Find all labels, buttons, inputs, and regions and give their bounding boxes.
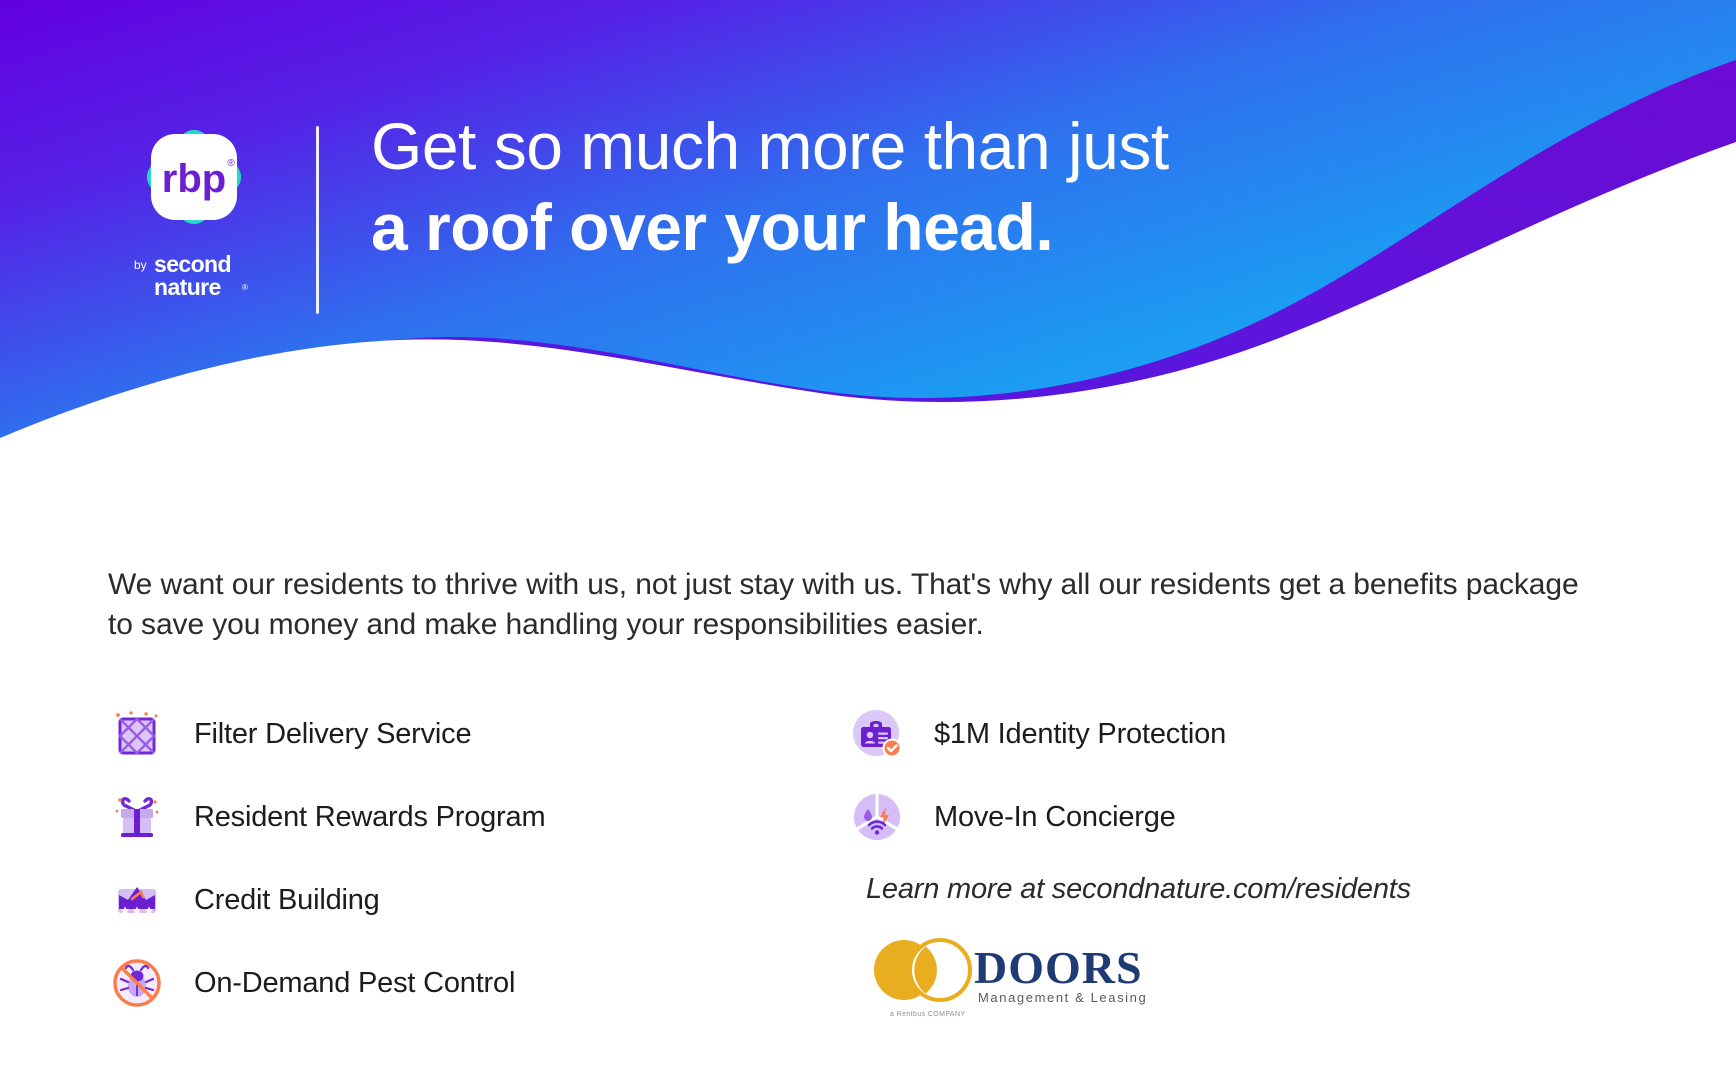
- doors-partner-logo: DOORS Management & Leasing a Rentbus COM…: [862, 928, 1162, 1024]
- no-pest-icon: [108, 954, 166, 1012]
- svg-text:nature: nature: [154, 274, 221, 300]
- benefit-resident-rewards-program: Resident Rewards Program: [108, 776, 848, 859]
- benefit-identity-protection: $1M Identity Protection: [848, 693, 1588, 776]
- benefits-column-left: Filter Delivery Service: [108, 693, 848, 1025]
- rbp-benefits-flyer: rbp ® by second nature ® Get so much mor…: [0, 0, 1736, 1080]
- id-briefcase-check-icon: [848, 705, 906, 763]
- benefits-grid: Filter Delivery Service: [108, 693, 1628, 1025]
- benefit-label: On-Demand Pest Control: [194, 967, 515, 1000]
- intro-paragraph: We want our residents to thrive with us,…: [108, 565, 1588, 645]
- svg-text:®: ®: [227, 158, 235, 169]
- svg-text:®: ®: [242, 283, 248, 292]
- benefit-label: $1M Identity Protection: [934, 718, 1226, 751]
- hero-banner: rbp ® by second nature ® Get so much mor…: [0, 0, 1736, 500]
- doors-wordmark: DOORS: [974, 942, 1143, 993]
- rbp-logo-icon: rbp ®: [135, 118, 253, 236]
- benefit-label: Move-In Concierge: [934, 801, 1176, 834]
- benefits-column-right: $1M Identity Protection: [848, 693, 1588, 1025]
- benefit-label: Resident Rewards Program: [194, 801, 545, 834]
- rbp-logo-lockup: rbp ® by second nature ®: [108, 118, 280, 300]
- second-nature-byline: by second nature ®: [130, 248, 258, 300]
- air-filter-icon: [108, 705, 166, 763]
- benefit-label: Filter Delivery Service: [194, 718, 471, 751]
- credit-crown-stars-icon: [108, 871, 166, 929]
- headline-line-2: a roof over your head.: [371, 191, 1736, 265]
- hero-divider: [316, 126, 319, 314]
- body-section: We want our residents to thrive with us,…: [0, 500, 1736, 1080]
- utilities-circle-icon: [848, 788, 906, 846]
- benefit-move-in-concierge: Move-In Concierge: [848, 776, 1588, 859]
- hero-content: rbp ® by second nature ® Get so much mor…: [0, 0, 1736, 500]
- gift-box-icon: [108, 788, 166, 846]
- hero-headline: Get so much more than just a roof over y…: [371, 112, 1736, 265]
- doors-tagline: Management & Leasing: [978, 990, 1147, 1005]
- benefit-on-demand-pest-control: On-Demand Pest Control: [108, 942, 848, 1025]
- rbp-wordmark-text: rbp: [162, 157, 226, 201]
- benefit-credit-building: Credit Building: [108, 859, 848, 942]
- doors-fine-print: a Rentbus COMPANY: [890, 1011, 966, 1018]
- svg-text:by: by: [134, 258, 147, 272]
- learn-more-text: Learn more at secondnature.com/residents: [866, 873, 1588, 906]
- benefit-filter-delivery-service: Filter Delivery Service: [108, 693, 848, 776]
- benefit-label: Credit Building: [194, 884, 380, 917]
- headline-line-1: Get so much more than just: [371, 112, 1736, 181]
